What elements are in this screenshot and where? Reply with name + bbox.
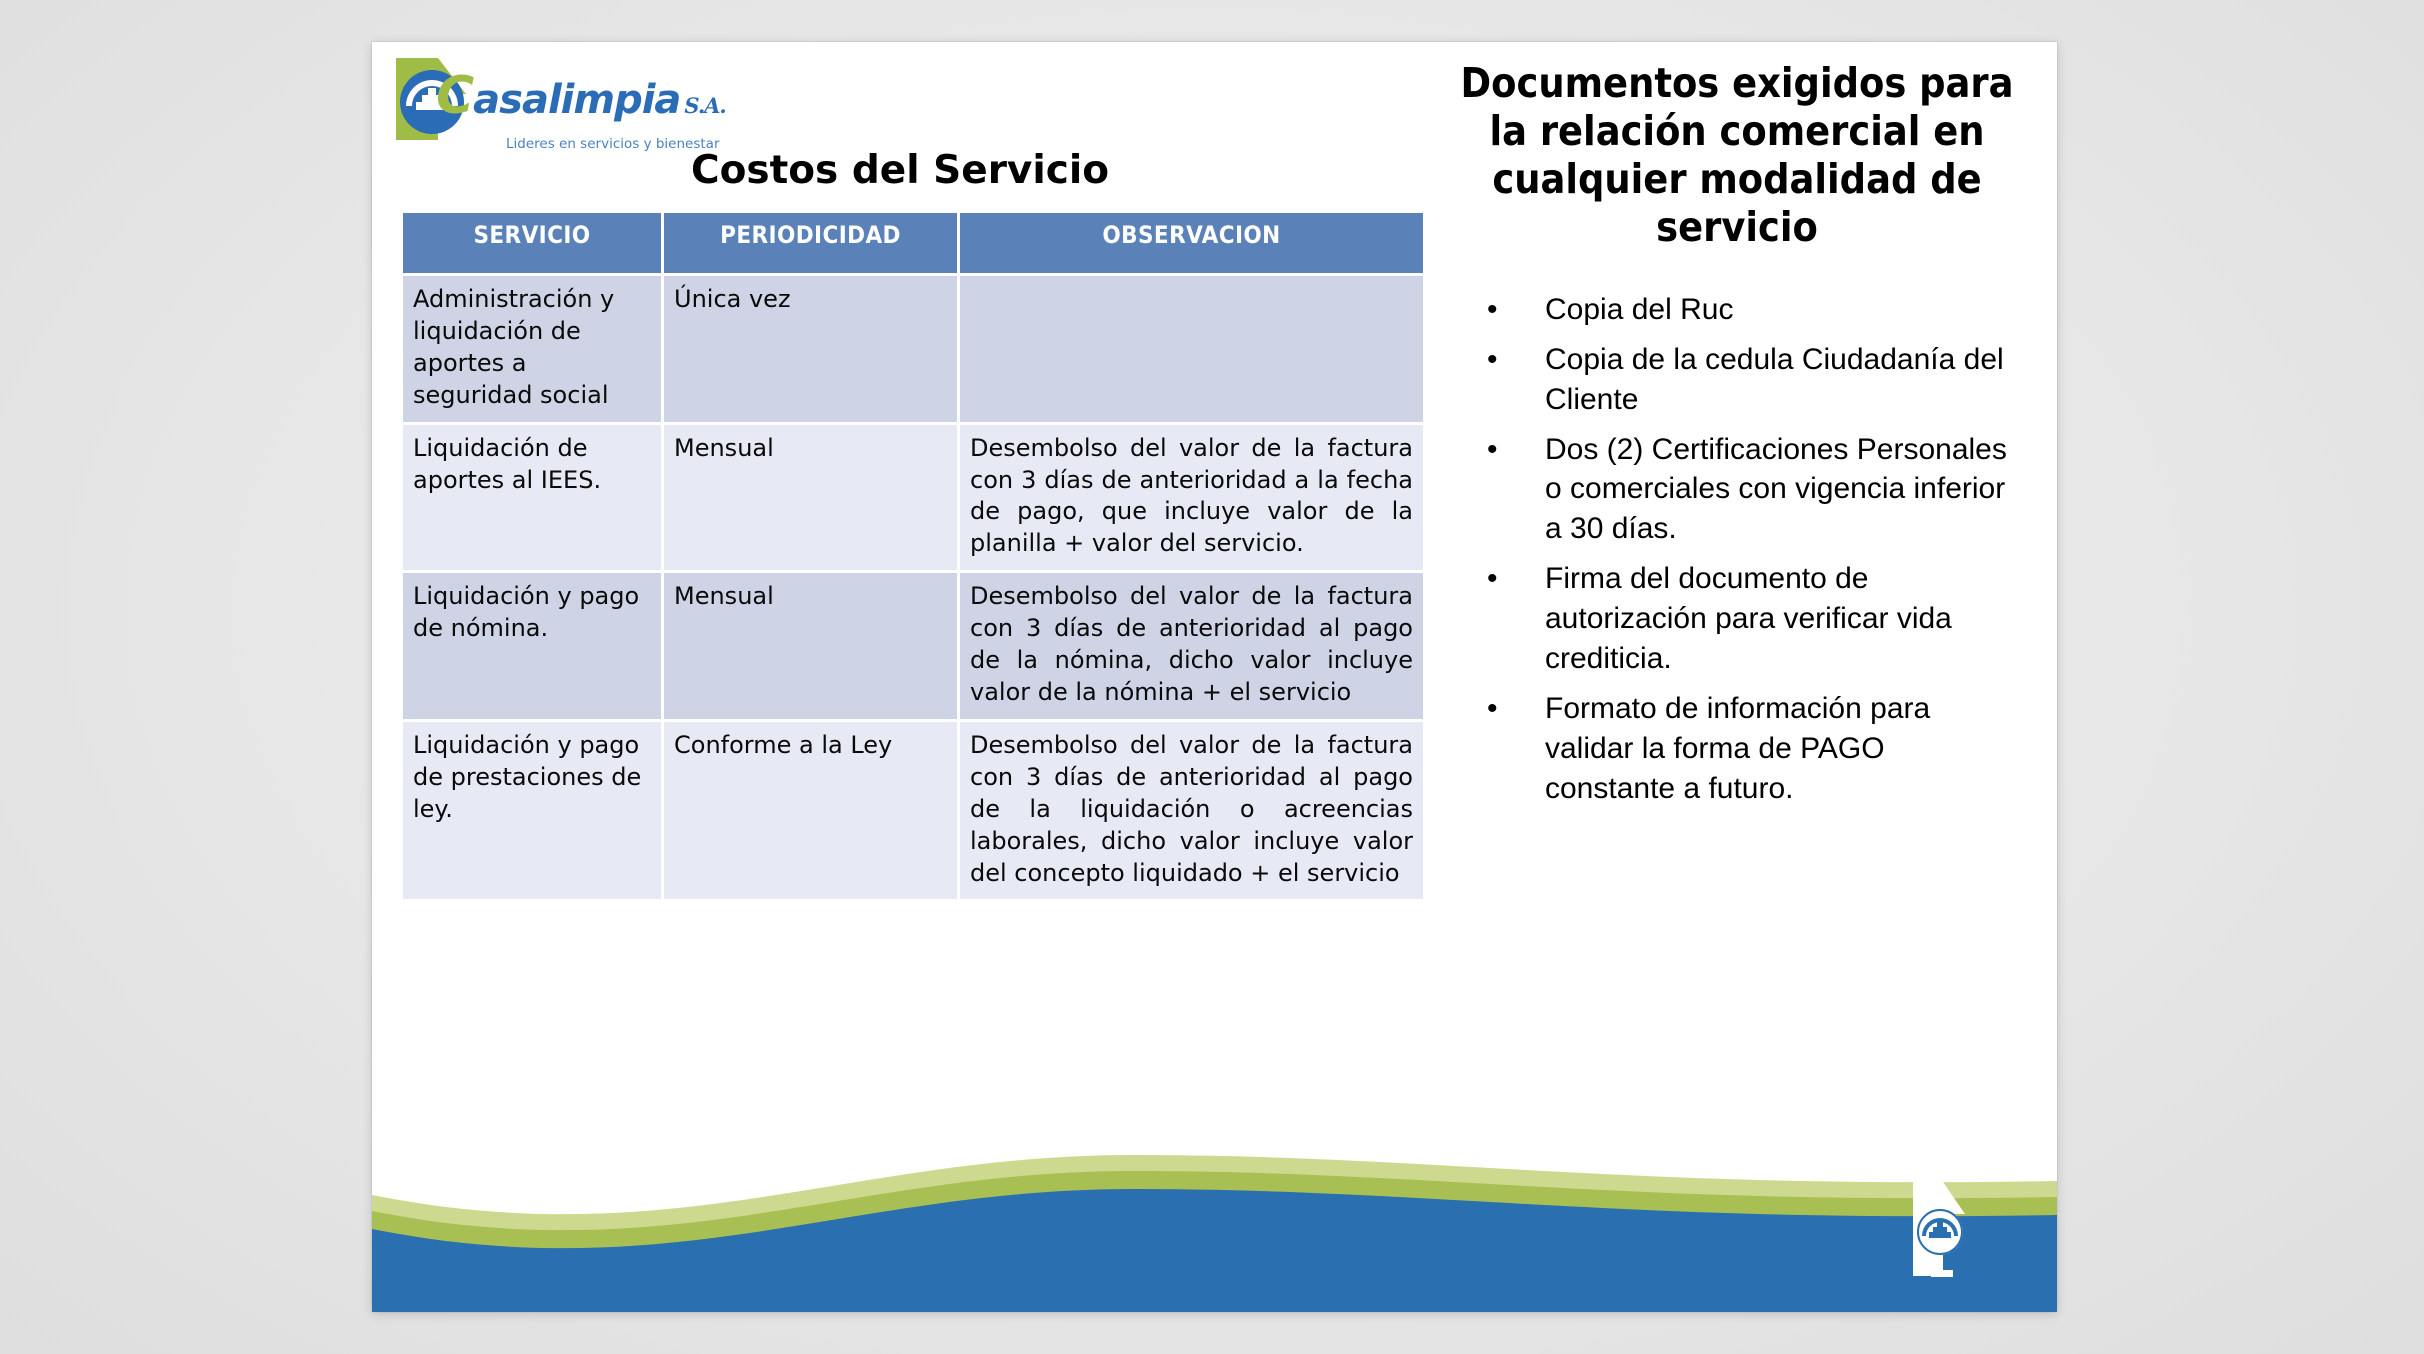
list-item: • Formato de información para validar la… [1487,689,2007,809]
list-item-label: Copia de la cedula Ciudadanía del Client… [1545,343,2004,416]
logo-name: asalimpia [473,77,680,123]
cell-periodicidad: Única vez [664,276,957,422]
cell-servicio: Liquidación y pago de prestaciones de le… [403,722,661,900]
cell-observacion [960,276,1423,422]
casalimpia-footer-icon [1909,1174,1973,1284]
table-header-row: SERVICIO PERIODICIDAD OBSERVACION [403,213,1423,273]
table-row: Liquidación y pago de nómina. Mensual De… [403,573,1423,719]
list-item-label: Formato de información para validar la f… [1545,692,1930,805]
list-item: • Copia de la cedula Ciudadanía del Clie… [1487,340,2007,420]
cell-observacion: Desembolso del valor de la factura con 3… [960,573,1423,719]
logo-wordmark: CasalimpiaS.A. [436,66,726,126]
column-header-servicio: SERVICIO [403,213,661,273]
table-header: SERVICIO PERIODICIDAD OBSERVACION [403,213,1423,273]
table-row: Liquidación y pago de prestaciones de le… [403,722,1423,900]
column-header-periodicidad: PERIODICIDAD [664,213,957,273]
bullet-icon: • [1487,290,1498,330]
bullet-icon: • [1487,430,1498,470]
cell-periodicidad: Mensual [664,573,957,719]
table-body: Administración y liquidación de aportes … [403,276,1423,899]
column-header-observacion: OBSERVACION [960,213,1423,273]
costs-table: SERVICIO PERIODICIDAD OBSERVACION Admini… [400,210,1426,902]
cell-periodicidad: Conforme a la Ley [664,722,957,900]
table-title: Costos del Servicio [400,148,1400,193]
documents-panel: Documentos exigidos para la relación com… [1427,60,2047,819]
documents-list: • Copia del Ruc • Copia de la cedula Ciu… [1427,290,2047,809]
documents-panel-title: Documentos exigidos para la relación com… [1427,60,2047,252]
cell-observacion: Desembolso del valor de la factura con 3… [960,722,1423,900]
cell-observacion: Desembolso del valor de la factura con 3… [960,425,1423,571]
list-item-label: Firma del documento de autorización para… [1545,562,1952,675]
footer-wave-decoration [372,1137,2057,1312]
table-row: Liquidación de aportes al IEES. Mensual … [403,425,1423,571]
cell-periodicidad: Mensual [664,425,957,571]
slide-canvas: CasalimpiaS.A. Lideres en servicios y bi… [372,42,2057,1312]
cell-servicio: Administración y liquidación de aportes … [403,276,661,422]
cell-servicio: Liquidación de aportes al IEES. [403,425,661,571]
cell-servicio: Liquidación y pago de nómina. [403,573,661,719]
logo-suffix: S.A. [684,93,725,118]
logo-lead-letter: C [436,66,473,126]
list-item-label: Dos (2) Certificaciones Personales o com… [1545,433,2007,546]
bullet-icon: • [1487,689,1498,729]
list-item-label: Copia del Ruc [1545,293,1733,326]
company-logo: CasalimpiaS.A. Lideres en servicios y bi… [388,52,688,162]
bullet-icon: • [1487,559,1498,599]
table-row: Administración y liquidación de aportes … [403,276,1423,422]
list-item: • Firma del documento de autorización pa… [1487,559,2007,679]
list-item: • Copia del Ruc [1487,290,2007,330]
bullet-icon: • [1487,340,1498,380]
list-item: • Dos (2) Certificaciones Personales o c… [1487,430,2007,550]
